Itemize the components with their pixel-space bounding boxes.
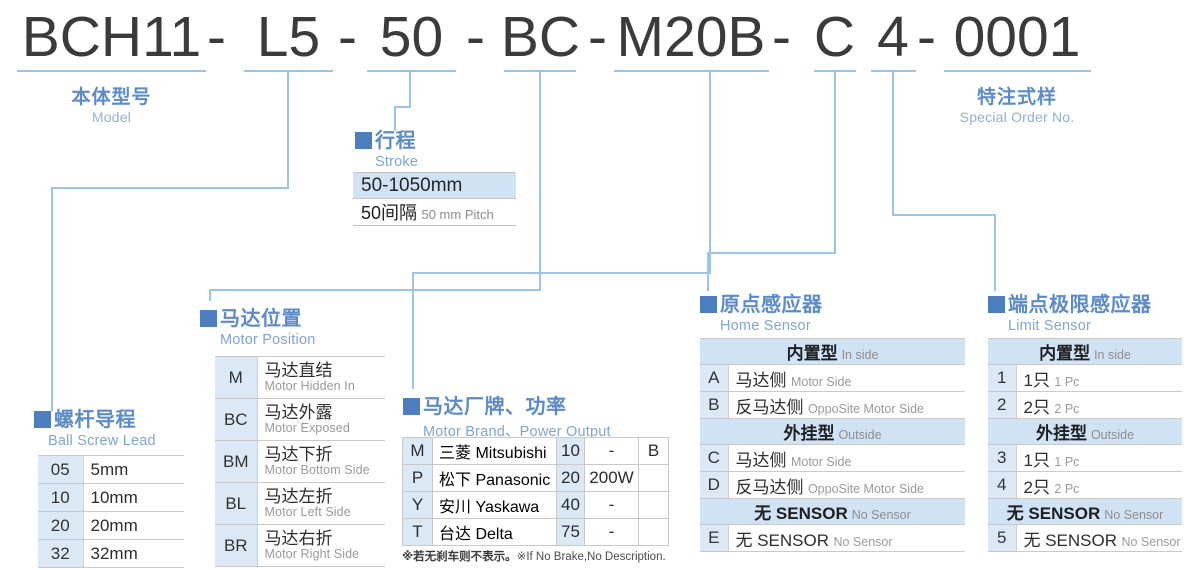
code-segment-home-sensor: C (802, 6, 867, 68)
table-row: B 反马达侧 OppoSite Motor Side (700, 392, 965, 419)
code-segment-special-order: 0001 (943, 6, 1091, 68)
code-segment-model: BCH11 (18, 6, 205, 68)
home-sensor-value-cn: 无 SENSOR (736, 531, 830, 550)
home-sensor-key: B (700, 392, 728, 419)
table-row: 3 1只 1 Pc (988, 445, 1182, 472)
table-row: D 反马达侧 OppoSite Motor Side (700, 472, 965, 499)
motor-brake-empty (639, 492, 669, 519)
motor-position-value: 马达外露 Motor Exposed (257, 399, 385, 441)
motor-brand-rows: M 三菱 Mitsubishi 10 - B P 松下 Panasonic 20… (403, 438, 669, 546)
limit-sensor-bullet-icon (988, 296, 1005, 313)
table-row: 20 20mm (38, 512, 184, 540)
limit-sensor-key: 3 (988, 445, 1016, 472)
table-row: 10 10mm (38, 484, 184, 512)
limit-sensor-value-cn: 2只 (1024, 478, 1050, 497)
ball-screw-lead-rows: 05 5mm 10 10mm 20 20mm 32 32mm (38, 456, 184, 568)
limit-sensor-band: 内置型In side (988, 339, 1182, 365)
leader-home-sensor (708, 71, 835, 290)
home-sensor-value-en: OppoSite Motor Side (808, 482, 924, 496)
motor-position-value-cn: 马达外露 (265, 404, 386, 422)
table-row: M 三菱 Mitsubishi 10 - B (403, 438, 669, 465)
motor-brand-key: T (403, 519, 433, 546)
group-band-row: 外挂型Outside (988, 419, 1182, 445)
limit-sensor-value-cn: 2只 (1024, 398, 1050, 417)
ball-screw-lead-value: 32mm (83, 540, 184, 568)
home-sensor-value-cn: 反马达侧 (736, 398, 804, 417)
ball-screw-lead-value: 5mm (83, 456, 184, 484)
home-sensor-band-cn: 外挂型 (783, 424, 834, 443)
ball-screw-lead-value-cn: 20mm (91, 516, 138, 535)
code-segment-motor-position: BC (497, 6, 584, 68)
stroke-pitch-cn: 50间隔 (361, 203, 417, 223)
ball-screw-lead-bullet-icon (34, 411, 51, 428)
home-sensor-band-cn: 无 SENSOR (754, 504, 848, 523)
motor-brand-name-en: Yaskawa (475, 499, 539, 516)
home-sensor-key: D (700, 472, 728, 499)
home-sensor-value-cn: 反马达侧 (736, 478, 804, 497)
table-row: 1 1只 1 Pc (988, 365, 1182, 392)
home-sensor-table: 内置型In side A 马达侧 Motor Side B 反马达侧 OppoS… (700, 338, 965, 552)
code-dash-1: - (207, 6, 226, 68)
motor-position-value-en: Motor Bottom Side (265, 464, 386, 477)
motor-brand-key: M (403, 438, 433, 465)
ball-screw-lead-value-cn: 32mm (91, 544, 138, 563)
section-limit-sensor-cn: 端点极限感应器 (1008, 288, 1152, 317)
leader-stroke (395, 71, 410, 130)
home-sensor-value-en: Motor Side (791, 455, 851, 469)
motor-position-value-cn: 马达右折 (265, 530, 386, 548)
ball-screw-lead-value: 20mm (83, 512, 184, 540)
home-sensor-band-en: In side (842, 348, 879, 362)
table-row: E 无 SENSOR No Sensor (700, 525, 965, 552)
limit-sensor-value: 无 SENSOR No Sensor (1016, 525, 1182, 552)
table-row: BR 马达右折 Motor Right Side (215, 525, 385, 567)
limit-sensor-band-cn: 内置型 (1039, 344, 1090, 363)
code-dash-3: - (466, 6, 485, 68)
label-model: 本体型号 Model (18, 82, 205, 125)
motor-brand-name: 松下 Panasonic (433, 465, 557, 492)
table-row: 05 5mm (38, 456, 184, 484)
motor-position-rows: M 马达直结 Motor Hidden In BC 马达外露 Motor Exp… (215, 357, 385, 567)
limit-sensor-band-cn: 外挂型 (1036, 424, 1087, 443)
home-sensor-value-cn: 马达侧 (736, 451, 787, 470)
motor-brand-name-cn: 安川 (439, 499, 471, 516)
limit-sensor-key: 5 (988, 525, 1016, 552)
limit-sensor-value-cn: 1只 (1024, 451, 1050, 470)
motor-position-key: BR (215, 525, 257, 567)
home-sensor-value: 马达侧 Motor Side (728, 365, 965, 392)
ball-screw-lead-table: 05 5mm 10 10mm 20 20mm 32 32mm (38, 455, 184, 568)
motor-position-value-cn: 马达下折 (265, 446, 386, 464)
section-head-motor-position: 马达位置 Motor Position (200, 302, 315, 348)
product-code-diagram: BCH11 - L5 - 50 - BC - M20B - C 4 - 0001… (0, 0, 1200, 570)
table-row: BM 马达下折 Motor Bottom Side (215, 441, 385, 483)
motor-brand-name-en: Mitsubishi (475, 445, 546, 462)
stroke-range-cell: 50-1050mm (353, 173, 516, 199)
motor-brand-note-en: ※If No Brake,No Description. (517, 551, 666, 563)
section-head-limit-sensor: 端点极限感应器 Limit Sensor (988, 288, 1152, 334)
table-row: P 松下 Panasonic 20 200W (403, 465, 669, 492)
home-sensor-value-en: OppoSite Motor Side (808, 402, 924, 416)
code-segment-motor-brand: M20B (612, 6, 770, 68)
limit-sensor-rows: 内置型In side 1 1只 1 Pc 2 2只 2 Pc 外挂型Outs (988, 339, 1182, 552)
motor-brand-name: 安川 Yaskawa (433, 492, 557, 519)
home-sensor-key: A (700, 365, 728, 392)
code-segment-stroke: 50 (368, 6, 455, 68)
ball-screw-lead-key: 10 (38, 484, 83, 512)
limit-sensor-band-en: Outside (1091, 428, 1134, 442)
motor-brand-table: M 三菱 Mitsubishi 10 - B P 松下 Panasonic 20… (402, 437, 669, 546)
table-row: BC 马达外露 Motor Exposed (215, 399, 385, 441)
motor-position-value: 马达直结 Motor Hidden In (257, 357, 385, 399)
table-row: BL 马达左折 Motor Left Side (215, 483, 385, 525)
label-special-order: 特注式样 Special Order No. (943, 82, 1091, 125)
code-dash-4: - (588, 6, 607, 68)
leader-motor-brand (413, 71, 710, 388)
motor-position-key: BC (215, 399, 257, 441)
code-dash-5: - (772, 6, 791, 68)
home-sensor-value: 反马达侧 OppoSite Motor Side (728, 392, 965, 419)
limit-sensor-value: 2只 2 Pc (1016, 472, 1182, 499)
home-sensor-value: 马达侧 Motor Side (728, 445, 965, 472)
home-sensor-band-en: No Sensor (852, 508, 911, 522)
group-band-row: 无 SENSORNo Sensor (700, 499, 965, 525)
ball-screw-lead-value-cn: 10mm (91, 488, 138, 507)
home-sensor-band-cn: 内置型 (787, 344, 838, 363)
limit-sensor-value-en: 1 Pc (1054, 455, 1079, 469)
motor-power-key: 75 (557, 519, 585, 546)
ball-screw-lead-key: 05 (38, 456, 83, 484)
motor-position-value-en: Motor Exposed (265, 422, 386, 435)
motor-position-key: BM (215, 441, 257, 483)
home-sensor-value-cn: 马达侧 (736, 371, 787, 390)
ball-screw-lead-key: 32 (38, 540, 83, 568)
limit-sensor-value-en: 1 Pc (1054, 375, 1079, 389)
motor-brand-name-en: Panasonic (475, 472, 550, 489)
group-band-row: 外挂型Outside (700, 419, 965, 445)
section-ball-screw-lead-en: Ball Screw Lead (48, 433, 156, 449)
home-sensor-key: C (700, 445, 728, 472)
home-sensor-band-en: Outside (838, 428, 881, 442)
motor-brand-name: 台达 Delta (433, 519, 557, 546)
section-limit-sensor-en: Limit Sensor (1008, 318, 1152, 334)
section-stroke-en: Stroke (375, 154, 418, 170)
home-sensor-value-en: No Sensor (833, 535, 892, 549)
code-segment-limit-sensor: 4 (865, 6, 921, 68)
motor-brake-empty (639, 519, 669, 546)
motor-brand-key: Y (403, 492, 433, 519)
motor-position-table: M 马达直结 Motor Hidden In BC 马达外露 Motor Exp… (215, 356, 385, 567)
motor-brand-bullet-icon (403, 398, 420, 415)
section-home-sensor-en: Home Sensor (720, 318, 823, 334)
motor-brand-name-cn: 台达 (439, 526, 471, 543)
limit-sensor-value: 2只 2 Pc (1016, 392, 1182, 419)
section-home-sensor-cn: 原点感应器 (720, 288, 823, 317)
motor-brand-name-cn: 三菱 (439, 445, 471, 462)
limit-sensor-value-cn: 无 SENSOR (1024, 531, 1118, 550)
code-dash-2: - (338, 6, 357, 68)
motor-power-key: 10 (557, 438, 585, 465)
motor-position-value-cn: 马达直结 (265, 362, 386, 380)
motor-position-value: 马达右折 Motor Right Side (257, 525, 385, 567)
motor-power-value: 200W (585, 465, 639, 492)
motor-position-value: 马达下折 Motor Bottom Side (257, 441, 385, 483)
motor-brand-name-en: Delta (475, 526, 512, 543)
motor-brand-note-cn: ※若无刹车则不表示。 (402, 551, 517, 563)
home-sensor-band: 无 SENSORNo Sensor (700, 499, 965, 525)
label-special-order-cn: 特注式样 (943, 82, 1091, 109)
table-row: C 马达侧 Motor Side (700, 445, 965, 472)
motor-brake-empty (639, 465, 669, 492)
table-row: 32 32mm (38, 540, 184, 568)
motor-power-value: - (585, 438, 639, 465)
motor-brand-note: ※若无刹车则不表示。※If No Brake,No Description. (402, 548, 666, 564)
table-row: 2 2只 2 Pc (988, 392, 1182, 419)
home-sensor-value-en: Motor Side (791, 375, 851, 389)
section-motor-position-cn: 马达位置 (220, 302, 302, 331)
home-sensor-rows: 内置型In side A 马达侧 Motor Side B 反马达侧 OppoS… (700, 339, 965, 552)
limit-sensor-band: 外挂型Outside (988, 419, 1182, 445)
limit-sensor-value-en: No Sensor (1121, 535, 1180, 549)
section-stroke-cn: 行程 (375, 124, 416, 153)
motor-brand-name: 三菱 Mitsubishi (433, 438, 557, 465)
motor-power-key: 40 (557, 492, 585, 519)
section-head-ball-screw-lead: 螺杆导程 Ball Screw Lead (34, 403, 156, 449)
motor-power-value: - (585, 492, 639, 519)
table-row: 5 无 SENSOR No Sensor (988, 525, 1182, 552)
home-sensor-band: 外挂型Outside (700, 419, 965, 445)
code-segment-lead: L5 (245, 6, 332, 68)
home-sensor-value: 无 SENSOR No Sensor (728, 525, 965, 552)
table-row: Y 安川 Yaskawa 40 - (403, 492, 669, 519)
motor-brand-key: P (403, 465, 433, 492)
limit-sensor-value-en: 2 Pc (1054, 482, 1079, 496)
limit-sensor-band: 无 SENSORNo Sensor (988, 499, 1182, 525)
home-sensor-value: 反马达侧 OppoSite Motor Side (728, 472, 965, 499)
motor-position-value-en: Motor Hidden In (265, 380, 386, 393)
motor-position-key: BL (215, 483, 257, 525)
code-dash-6: - (917, 6, 936, 68)
table-row: T 台达 Delta 75 - (403, 519, 669, 546)
ball-screw-lead-value-cn: 5mm (91, 460, 129, 479)
limit-sensor-value: 1只 1 Pc (1016, 445, 1182, 472)
limit-sensor-table: 内置型In side 1 1只 1 Pc 2 2只 2 Pc 外挂型Outs (988, 338, 1182, 552)
stroke-pitch-row: 50间隔 50 mm Pitch (353, 199, 516, 226)
motor-position-value-en: Motor Left Side (265, 506, 386, 519)
section-motor-brand-cn: 马达厂牌、功率 (423, 390, 567, 419)
limit-sensor-value-en: 2 Pc (1054, 402, 1079, 416)
motor-position-bullet-icon (200, 310, 217, 327)
ball-screw-lead-key: 20 (38, 512, 83, 540)
stroke-range-row: 50-1050mm (353, 173, 516, 199)
stroke-table: 50-1050mm 50间隔 50 mm Pitch (353, 172, 516, 226)
limit-sensor-band-en: In side (1094, 348, 1131, 362)
section-ball-screw-lead-cn: 螺杆导程 (54, 403, 136, 432)
stroke-pitch-cell: 50间隔 50 mm Pitch (353, 199, 516, 226)
home-sensor-key: E (700, 525, 728, 552)
home-sensor-band: 内置型In side (700, 339, 965, 365)
group-band-row: 内置型In side (988, 339, 1182, 365)
limit-sensor-band-cn: 无 SENSOR (1007, 504, 1101, 523)
limit-sensor-band-en: No Sensor (1104, 508, 1163, 522)
motor-position-value-cn: 马达左折 (265, 488, 386, 506)
section-head-stroke: 行程 Stroke (355, 124, 418, 170)
motor-position-value: 马达左折 Motor Left Side (257, 483, 385, 525)
group-band-row: 无 SENSORNo Sensor (988, 499, 1182, 525)
motor-brake-key: B (639, 438, 669, 465)
limit-sensor-value-cn: 1只 (1024, 371, 1050, 390)
motor-position-key: M (215, 357, 257, 399)
section-head-motor-brand: 马达厂牌、功率 Motor Brand、Power Output (403, 390, 611, 441)
section-motor-position-en: Motor Position (220, 332, 315, 348)
stroke-pitch-en: 50 mm Pitch (421, 207, 493, 222)
limit-sensor-value: 1只 1 Pc (1016, 365, 1182, 392)
limit-sensor-key: 2 (988, 392, 1016, 419)
motor-power-key: 20 (557, 465, 585, 492)
product-code-row: BCH11 - L5 - 50 - BC - M20B - C 4 - 0001 (0, 6, 1200, 68)
motor-position-value-en: Motor Right Side (265, 548, 386, 561)
home-sensor-bullet-icon (700, 296, 717, 313)
limit-sensor-key: 4 (988, 472, 1016, 499)
motor-power-value: - (585, 519, 639, 546)
limit-sensor-key: 1 (988, 365, 1016, 392)
table-row: 4 2只 2 Pc (988, 472, 1182, 499)
group-band-row: 内置型In side (700, 339, 965, 365)
label-special-order-en: Special Order No. (943, 109, 1091, 125)
table-row: M 马达直结 Motor Hidden In (215, 357, 385, 399)
label-model-cn: 本体型号 (18, 82, 205, 109)
section-head-home-sensor: 原点感应器 Home Sensor (700, 288, 823, 334)
stroke-bullet-icon (355, 132, 372, 149)
motor-brand-name-cn: 松下 (439, 472, 471, 489)
table-row: A 马达侧 Motor Side (700, 365, 965, 392)
label-model-en: Model (18, 109, 205, 125)
ball-screw-lead-value: 10mm (83, 484, 184, 512)
